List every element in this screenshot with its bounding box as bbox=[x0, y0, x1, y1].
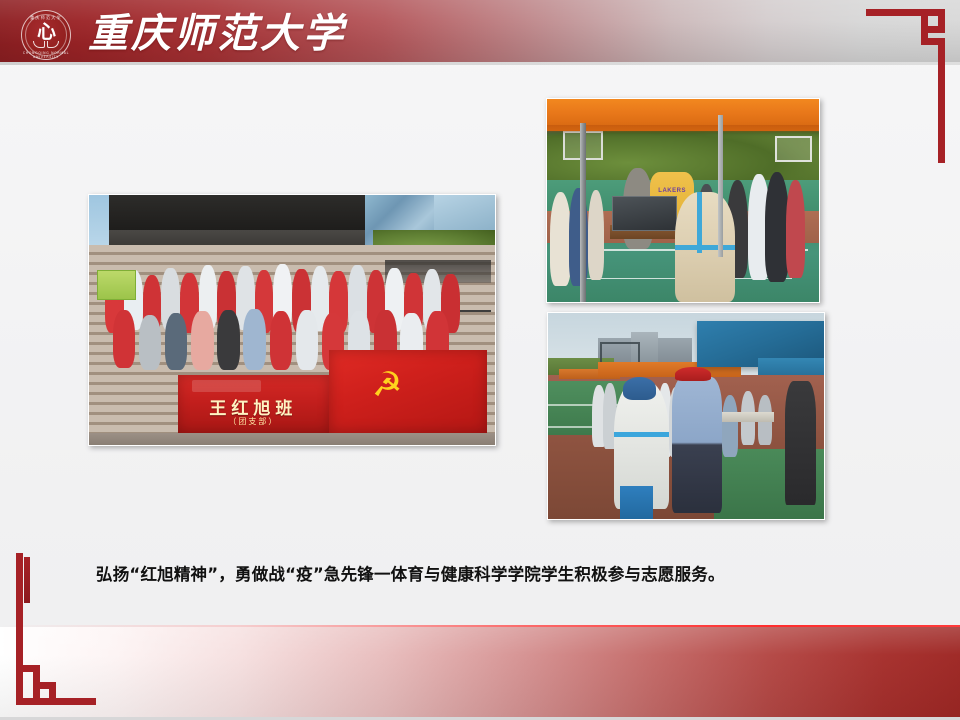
photo1-class-banner: 王红旭班 （团支部） bbox=[178, 375, 328, 433]
photo2-canopy-edge bbox=[546, 125, 820, 133]
photo2-ppe-strap-vertical bbox=[697, 192, 702, 253]
header-underline bbox=[0, 62, 960, 65]
ornamental-corner-bottom-left bbox=[0, 545, 120, 720]
university-seal-emblem: 重庆师范大学 心 CHONGQING NORMAL UNIVERSITY bbox=[19, 10, 75, 62]
photo3-red-cap bbox=[675, 367, 711, 381]
photo3-bystander bbox=[785, 381, 815, 505]
university-name-title: 重庆师范大学 bbox=[88, 8, 346, 60]
photo2-canopy-pole-right bbox=[718, 115, 722, 257]
footer-band-shade bbox=[0, 627, 960, 720]
photo2-laptop bbox=[612, 196, 677, 230]
photo3-ppe-hood bbox=[623, 377, 656, 400]
photo-group-photo-stairs: ☭ 王红旭班 （团支部） bbox=[88, 194, 496, 446]
emblem-center-glyph: 心 bbox=[33, 21, 59, 43]
photo2-canopy-pole-left bbox=[580, 123, 586, 302]
photo-blue-tent-testing-line bbox=[547, 312, 825, 520]
slide-caption: 弘扬“红旭精神”，勇做战“疫”急先锋一体育与健康科学学院学生积极参与志愿服务。 bbox=[96, 562, 906, 588]
photo3-registration-desk bbox=[719, 412, 774, 422]
photo2-jersey-text: LAKERS bbox=[650, 188, 694, 194]
photo1-green-sign bbox=[97, 270, 136, 300]
photo3-staff-blue-shirt bbox=[672, 377, 722, 513]
photo3-ppe-boots bbox=[620, 486, 653, 519]
emblem-ring-text-top: 重庆师范大学 bbox=[19, 15, 73, 21]
photo1-glass-facade-upper bbox=[434, 195, 495, 230]
presentation-slide: 重庆师范大学 心 CHONGQING NORMAL UNIVERSITY 重庆师… bbox=[0, 0, 960, 720]
emblem-ring-text-bottom: CHONGQING NORMAL UNIVERSITY bbox=[19, 51, 73, 59]
photo2-ppe-strap-horizontal bbox=[675, 245, 735, 250]
photo1-banner-logo bbox=[192, 380, 261, 392]
photo1-banner-title: 王红旭班 bbox=[178, 394, 328, 419]
emblem-open-book-icon bbox=[33, 41, 59, 49]
photo-orange-canopy-testing-station: LAKERS bbox=[546, 98, 820, 303]
photo1-ground bbox=[89, 433, 495, 446]
photo3-ppe-strap bbox=[614, 432, 669, 436]
photo1-banner-subtitle: （团支部） bbox=[178, 416, 328, 427]
photo1-party-flag: ☭ bbox=[329, 350, 487, 433]
hammer-and-sickle-icon: ☭ bbox=[351, 362, 424, 408]
ornamental-corner-top-right bbox=[860, 0, 960, 170]
